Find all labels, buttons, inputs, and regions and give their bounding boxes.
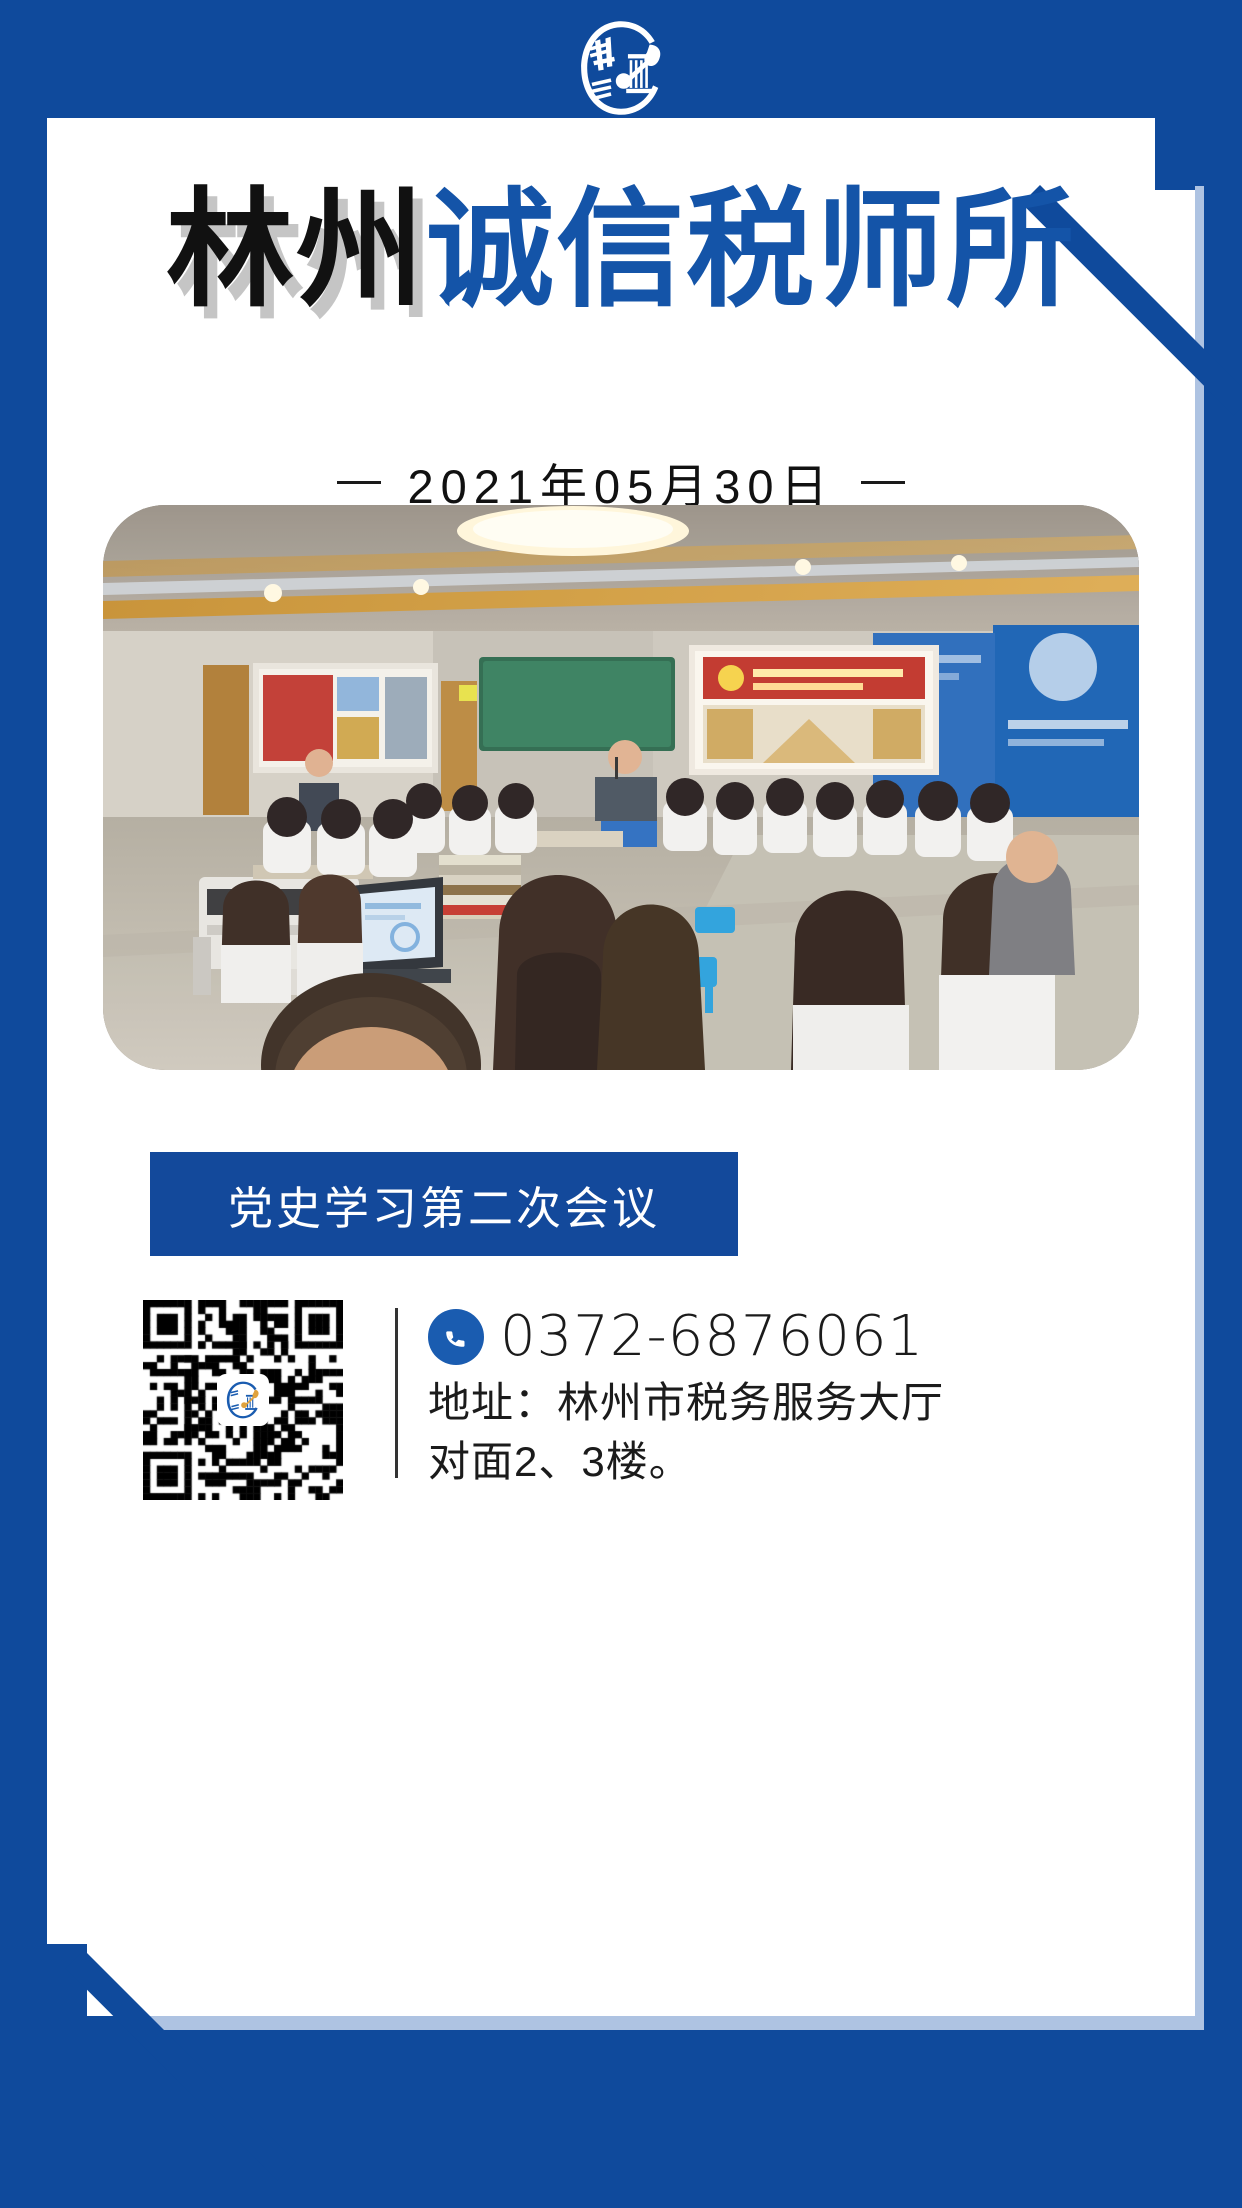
- poster-root: 林州诚信税师所 2021年05月30日: [0, 0, 1242, 2208]
- contact-details: 0372-6876061 地址：林州市税务服务大厅 对面2、3楼。: [428, 1300, 1143, 1487]
- qr-center-logo: [217, 1374, 269, 1426]
- circular-emblem-logo: [221, 1378, 265, 1422]
- logo-container: [0, 18, 1242, 118]
- address-line-2: 对面2、3楼。: [428, 1436, 1143, 1487]
- date-dash-left-icon: [337, 481, 381, 484]
- footer-contact: 0372-6876061 地址：林州市税务服务大厅 对面2、3楼。: [103, 1300, 1143, 1500]
- address-line-1: 地址：林州市税务服务大厅: [428, 1377, 1143, 1428]
- phone-handset-icon: [428, 1309, 484, 1365]
- card-shadow-bottom: [130, 2016, 1204, 2030]
- corner-fill-top-right: [1155, 118, 1195, 190]
- meeting-title-text: 党史学习第二次会议: [228, 1172, 660, 1237]
- phone-number: 0372-6876061: [500, 1304, 924, 1369]
- page-title: 林州诚信税师所: [47, 186, 1195, 317]
- circular-emblem-logo: [569, 16, 673, 120]
- footer-divider: [395, 1308, 398, 1478]
- wechat-qr-code[interactable]: [143, 1300, 343, 1500]
- meeting-title-banner: 党史学习第二次会议: [150, 1152, 738, 1256]
- page-title-blue: 诚信税师所: [426, 180, 1076, 322]
- phone-row[interactable]: 0372-6876061: [428, 1304, 1143, 1369]
- meeting-classroom-photo: [103, 505, 1139, 1070]
- date-dash-right-icon: [861, 481, 905, 484]
- page-title-dark: 林州: [166, 180, 426, 322]
